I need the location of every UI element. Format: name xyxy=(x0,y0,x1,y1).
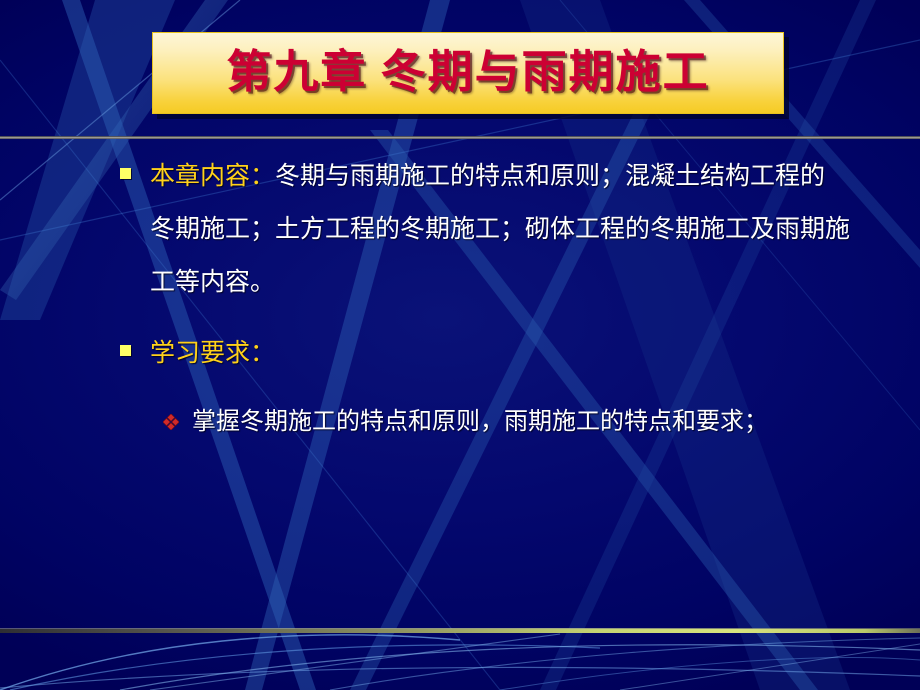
slide-body: 本章内容：冬期与雨期施工的特点和原则；混凝土结构工程的冬期施工；土方工程的冬期施… xyxy=(0,150,920,448)
page-title: 第九章 冬期与雨期施工 xyxy=(226,50,709,97)
footer-divider xyxy=(0,629,920,633)
bullet-2-label-suffix: ： xyxy=(250,340,275,367)
title-box: 第九章 冬期与雨期施工 xyxy=(152,32,784,114)
bullet-1-text: 本章内容：冬期与雨期施工的特点和原则；混凝土结构工程的冬期施工；土方工程的冬期施… xyxy=(0,150,920,309)
sub-bullet-1-text: 掌握冬期施工的特点和原则，雨期施工的特点和要求； xyxy=(0,396,920,448)
bullet-item-1: 本章内容：冬期与雨期施工的特点和原则；混凝土结构工程的冬期施工；土方工程的冬期施… xyxy=(0,150,920,309)
bullet-2-text: 学习要求： xyxy=(0,327,920,380)
bullet-2-label: 学习要求 xyxy=(150,340,250,367)
header-divider xyxy=(0,136,920,139)
bullet-1-label: 本章内容 xyxy=(150,163,250,190)
bullet-item-2: 学习要求： xyxy=(0,327,920,380)
bullet-1-label-suffix: ： xyxy=(250,163,275,190)
sub-bullet-item-1: 掌握冬期施工的特点和原则，雨期施工的特点和要求； xyxy=(0,396,920,448)
presentation-slide: 第九章 冬期与雨期施工 本章内容：冬期与雨期施工的特点和原则；混凝土结构工程的冬… xyxy=(0,0,920,690)
